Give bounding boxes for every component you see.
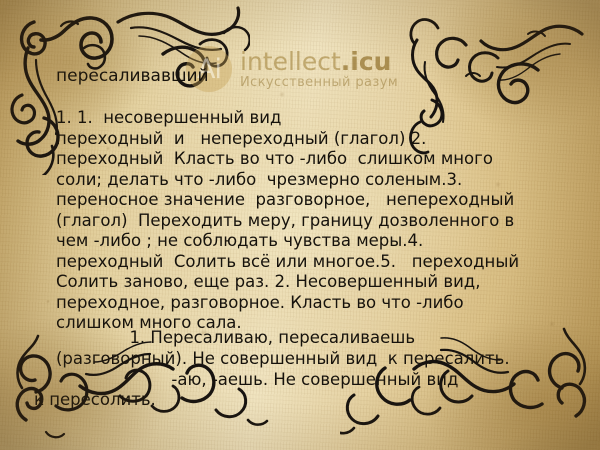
entry-conjugation: 1. Пересаливаю, пересаливаешь (разговорн… xyxy=(56,327,566,390)
parchment-card: Ai intellect.icu Искусственный разум пер… xyxy=(0,0,600,450)
dictionary-entry: пересаливавший 1. 1. несовершенный вид п… xyxy=(0,0,600,450)
entry-definitions: 1. 1. несовершенный вид переходный и неп… xyxy=(56,108,566,334)
entry-headword: пересаливавший xyxy=(56,66,209,86)
entry-tail-reference: к пересолить. xyxy=(34,390,156,410)
